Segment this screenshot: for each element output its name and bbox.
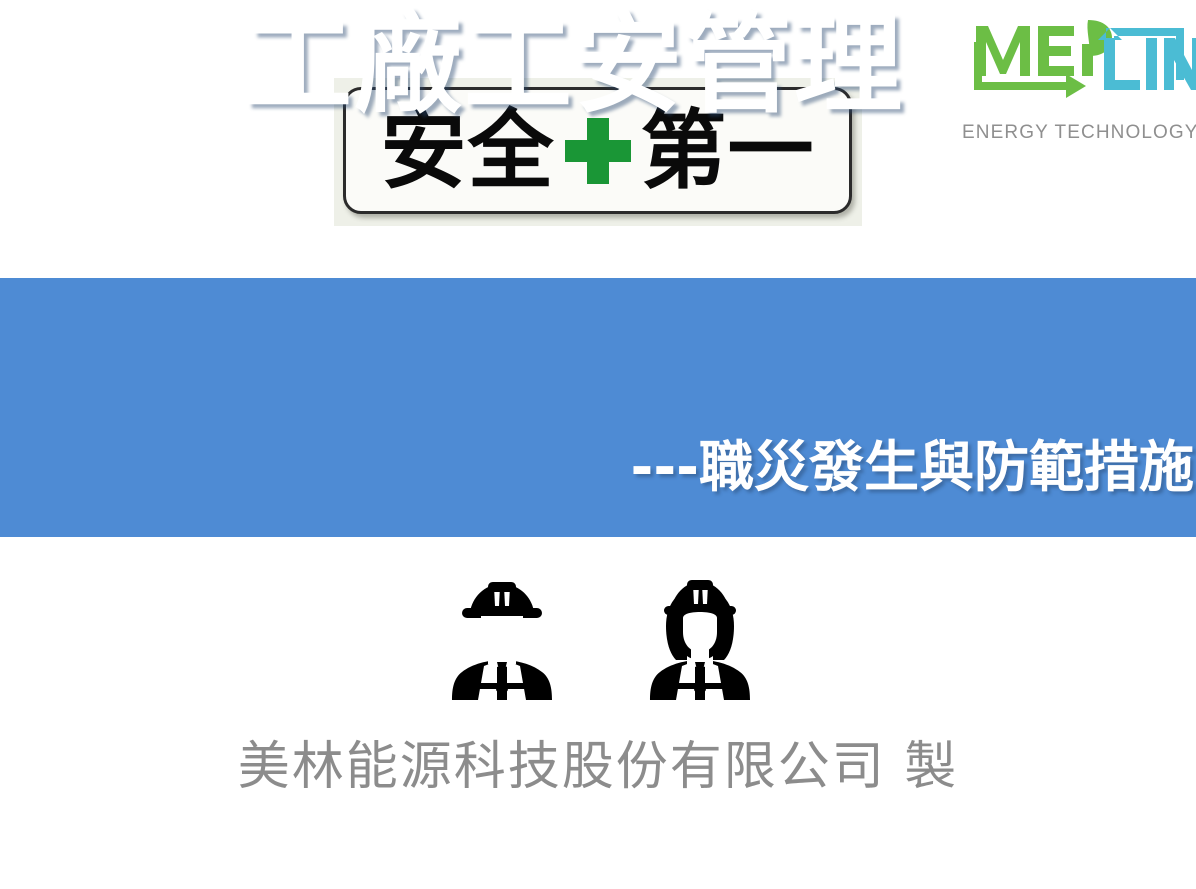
worker-illustration — [448, 578, 754, 700]
company-logo: ENERGY TECHNOLOGY — [962, 14, 1196, 140]
male-worker-icon — [448, 578, 556, 700]
page-title: 工廠工安管理 — [244, 2, 904, 129]
logo-tagline: ENERGY TECHNOLOGY — [962, 122, 1196, 144]
page-subtitle: ---職災發生與防範措施 — [631, 437, 1194, 498]
meilin-logo-mark — [962, 14, 1196, 106]
company-credit: 美林能源科技股份有限公司 製 — [0, 736, 1196, 798]
female-worker-icon — [646, 578, 754, 700]
presentation-title-slide: ENERGY TECHNOLOGY 安全 第一 工廠工安管理 ---職災發生與防… — [0, 0, 1196, 889]
